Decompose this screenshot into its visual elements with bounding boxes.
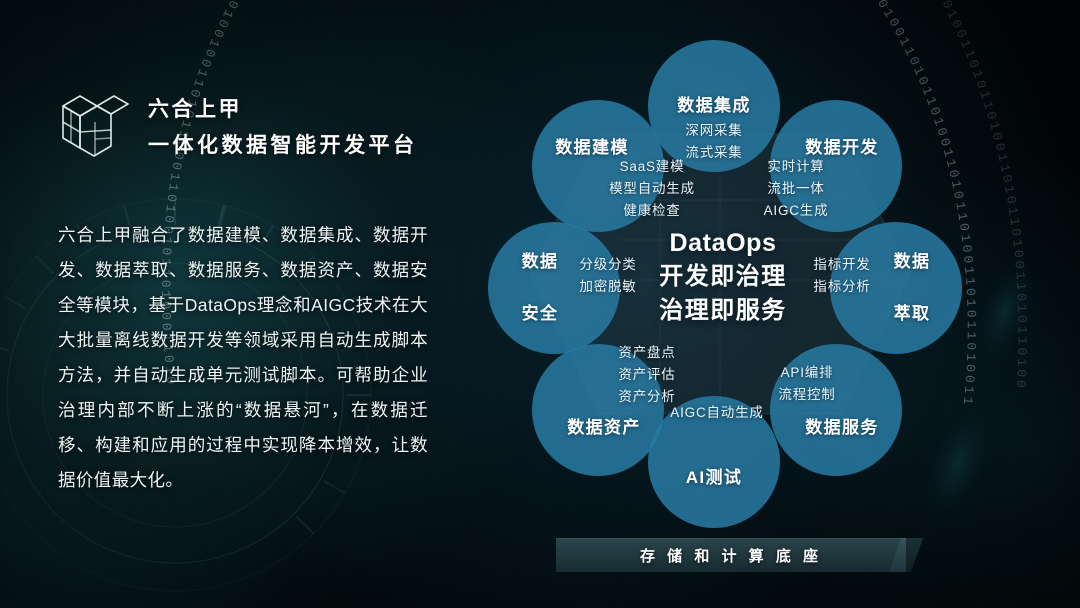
bubble-label: 数据安全 bbox=[522, 249, 559, 327]
left-panel: 六合上甲 一体化数据智能开发平台 六合上甲融合了数据建模、数据集成、数据开发、数… bbox=[58, 86, 428, 498]
caption-line: 模型自动生成 bbox=[592, 178, 712, 200]
caption-line: 深网采集 bbox=[658, 120, 770, 142]
brand-header: 六合上甲 一体化数据智能开发平台 bbox=[58, 86, 428, 166]
core-line-1: 开发即治理 bbox=[598, 260, 848, 294]
caption-line: 健康检查 bbox=[592, 200, 712, 222]
caption-assets: 资产盘点 资产评估 资产分析 bbox=[592, 342, 702, 408]
description-paragraph: 六合上甲融合了数据建模、数据集成、数据开发、数据萃取、数据服务、数据资产、数据安… bbox=[58, 218, 428, 498]
caption-line: AIGC生成 bbox=[740, 200, 852, 222]
bubble-label: 数据服务 bbox=[805, 416, 879, 440]
caption-line: 资产盘点 bbox=[592, 342, 702, 364]
footer-bar: 存 储 和 计 算 底 座 bbox=[556, 538, 906, 572]
core-line-2: 治理即服务 bbox=[598, 294, 848, 328]
bubble-label: 数据萃取 bbox=[894, 249, 931, 327]
footer-label: 存 储 和 计 算 底 座 bbox=[640, 545, 822, 566]
slide-canvas: 0110100100110101100011010010110100011010… bbox=[0, 0, 1080, 608]
bubble-label: 数据资产 bbox=[567, 416, 641, 440]
caption-service: API编排 流程控制 bbox=[752, 362, 862, 406]
core-english: DataOps bbox=[598, 226, 848, 260]
caption-line: 资产评估 bbox=[592, 364, 702, 386]
bubble-label: 数据集成 bbox=[677, 94, 751, 118]
brand-name: 六合上甲 bbox=[148, 93, 418, 123]
isometric-brick-wall-logo-icon bbox=[58, 86, 132, 166]
venn-diagram: 数据集成 数据建模 数据开发 数据安全 数据萃取 数据资产 数据服务 AI测试 bbox=[440, 14, 1000, 534]
core-label: DataOps 开发即治理 治理即服务 bbox=[598, 226, 848, 328]
brand-subtitle: 一体化数据智能开发平台 bbox=[148, 129, 418, 159]
caption-line: AIGC自动生成 bbox=[652, 402, 782, 424]
caption-line: API编排 bbox=[752, 362, 862, 384]
caption-line: 实时计算 bbox=[740, 156, 852, 178]
caption-development: 实时计算 流批一体 AIGC生成 bbox=[740, 156, 852, 222]
caption-aigc: AIGC自动生成 bbox=[652, 402, 782, 424]
caption-line: 流批一体 bbox=[740, 178, 852, 200]
bubble-label: AI测试 bbox=[686, 466, 743, 490]
caption-modeling: SaaS建模 模型自动生成 健康检查 bbox=[592, 156, 712, 222]
